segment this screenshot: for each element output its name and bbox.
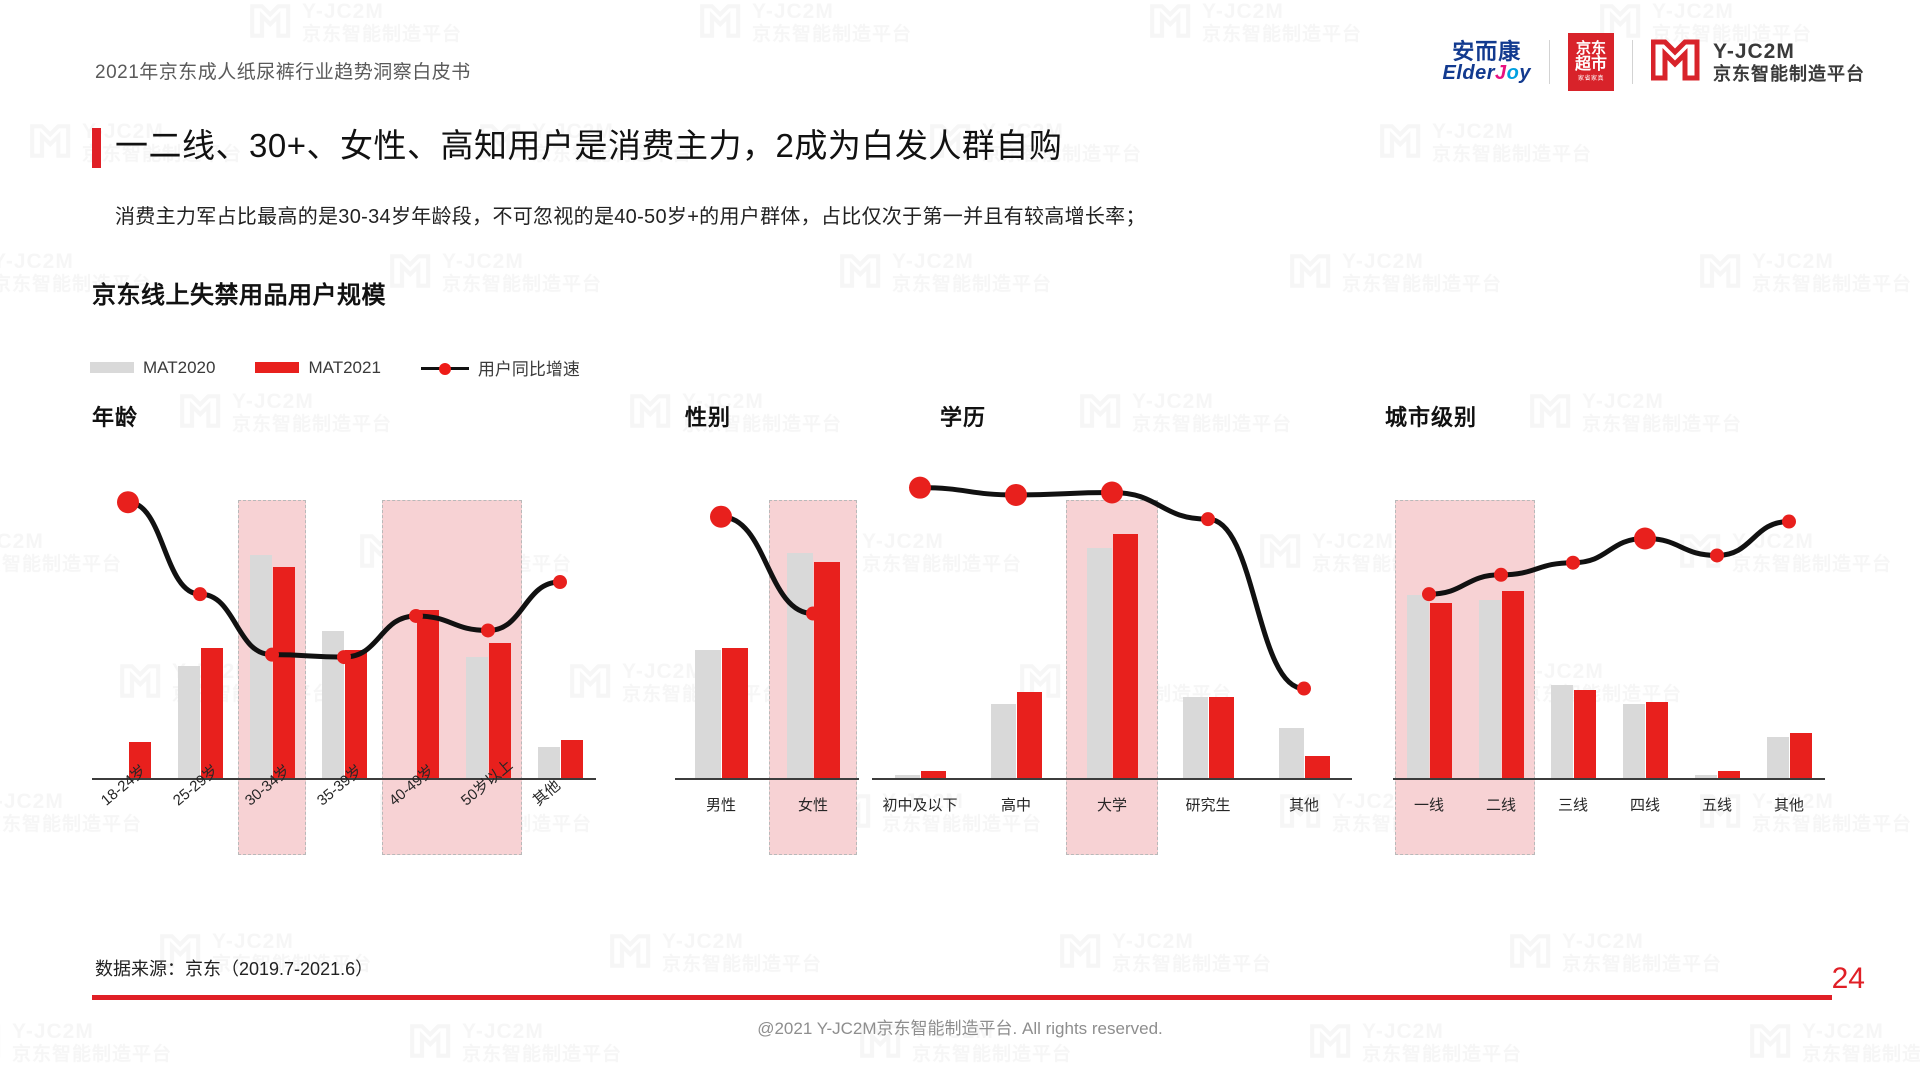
bar-group[interactable] xyxy=(380,610,452,780)
watermark: Y-JC2M京东智能制造平台 xyxy=(610,930,822,976)
bar-mat2021[interactable] xyxy=(722,648,748,781)
x-axis-label: 初中及以下 xyxy=(872,794,968,815)
legend-label: MAT2020 xyxy=(143,358,215,378)
bar-mat2021[interactable] xyxy=(561,740,583,780)
footer-accent-line xyxy=(92,995,1832,1000)
bar-group[interactable] xyxy=(236,555,308,780)
legend-label: MAT2021 xyxy=(308,358,380,378)
document-title: 2021年京东成人纸尿裤行业趋势洞察白皮书 xyxy=(95,57,471,84)
legend-swatch-icon xyxy=(255,362,299,373)
growth-point[interactable] xyxy=(1634,528,1656,550)
yjc2m-mark-icon xyxy=(1651,38,1701,87)
page-number: 24 xyxy=(1832,962,1865,996)
x-axis-labels: 一线二线三线四线五线其他 xyxy=(1393,780,1825,890)
x-axis-label: 高中 xyxy=(968,794,1064,815)
chart-section-title: 京东线上失禁用品用户规模 xyxy=(92,275,386,310)
chart-group-label-gender: 性别 xyxy=(685,400,731,432)
bar-mat2020[interactable] xyxy=(787,553,813,780)
watermark: Y-JC2M京东智能制造平台 xyxy=(840,250,1052,296)
watermark: Y-JC2M京东智能制造平台 xyxy=(390,250,602,296)
growth-point[interactable] xyxy=(117,491,139,513)
bar-group[interactable] xyxy=(452,643,524,780)
bar-group[interactable] xyxy=(308,631,380,780)
chart-city-tier: 一线二线三线四线五线其他 xyxy=(1393,470,1833,890)
growth-point[interactable] xyxy=(1005,484,1027,506)
watermark: Y-JC2M京东智能制造平台 xyxy=(1700,250,1912,296)
bar-mat2021[interactable] xyxy=(1502,591,1524,780)
headline-accent-bar xyxy=(92,128,101,168)
x-axis-label: 女性 xyxy=(767,794,859,815)
watermark: Y-JC2M京东智能制造平台 xyxy=(1380,120,1592,166)
bar-mat2020[interactable] xyxy=(1183,697,1208,780)
elderjoy-en-part2: J xyxy=(1495,62,1507,84)
jd-supermarket-logo: 京东 超市 家省家真 xyxy=(1568,33,1614,91)
x-axis-label: 三线 xyxy=(1537,794,1609,815)
chart-group-label-education: 学历 xyxy=(940,400,986,432)
elderjoy-en-part1: Elder xyxy=(1443,62,1496,84)
bar-mat2021[interactable] xyxy=(1430,603,1452,780)
growth-point[interactable] xyxy=(1297,682,1311,696)
elderjoy-logo: 安而康 ElderJoy xyxy=(1443,40,1550,84)
chart-education: 初中及以下高中大学研究生其他 xyxy=(872,470,1362,890)
legend-label: 用户同比增速 xyxy=(478,355,580,380)
yjc2m-logo-text: Y-JC2M 京东智能制造平台 xyxy=(1713,40,1865,85)
jd-logo-line2: 超市 xyxy=(1575,56,1607,74)
watermark: Y-JC2M京东智能制造平台 xyxy=(1150,0,1362,46)
bar-mat2021[interactable] xyxy=(1574,690,1596,780)
watermark: Y-JC2M京东智能制造平台 xyxy=(250,0,462,46)
bar-mat2021[interactable] xyxy=(345,650,367,780)
slide-page: Y-JC2M京东智能制造平台 Y-JC2M京东智能制造平台 Y-JC2M京东智能… xyxy=(0,0,1920,1080)
bar-mat2021[interactable] xyxy=(1790,733,1812,780)
bar-group[interactable] xyxy=(524,740,596,780)
bar-mat2021[interactable] xyxy=(417,610,439,780)
data-source-note: 数据来源：京东（2019.7-2021.6） xyxy=(95,955,373,981)
bar-mat2020[interactable] xyxy=(991,704,1016,780)
bar-mat2020[interactable] xyxy=(1623,704,1645,780)
watermark: Y-JC2M京东智能制造平台 xyxy=(630,390,842,436)
plot-area xyxy=(872,470,1352,780)
growth-point[interactable] xyxy=(1566,556,1580,570)
chart-age: 18-24岁25-29岁30-34岁35-39岁40-49岁50岁以上其他 xyxy=(92,470,612,890)
legend-item-growth-line[interactable]: 用户同比增速 xyxy=(421,355,580,380)
bar-mat2020[interactable] xyxy=(1479,600,1501,780)
bar-mat2021[interactable] xyxy=(1305,756,1330,780)
bar-mat2021[interactable] xyxy=(1209,697,1234,780)
bar-mat2021[interactable] xyxy=(814,562,840,780)
watermark: Y-JC2M京东智能制造平台 xyxy=(1060,930,1272,976)
plot-area xyxy=(92,470,596,780)
x-axis-label: 研究生 xyxy=(1160,794,1256,815)
bar-mat2021[interactable] xyxy=(1646,702,1668,780)
plot-area xyxy=(675,470,859,780)
bar-group[interactable] xyxy=(767,553,859,780)
bar-group[interactable] xyxy=(968,692,1064,780)
headline-text: 一二线、30+、女性、高知用户是消费主力，2成为白发人群自购 xyxy=(115,125,1062,166)
bar-mat2020[interactable] xyxy=(322,631,344,780)
elderjoy-logo-en: ElderJoy xyxy=(1443,63,1532,84)
bar-mat2020[interactable] xyxy=(466,657,488,780)
legend-item-mat2020[interactable]: MAT2020 xyxy=(90,358,215,378)
bar-mat2020[interactable] xyxy=(1279,728,1304,780)
growth-point[interactable] xyxy=(710,506,732,528)
headline-block: 一二线、30+、女性、高知用户是消费主力，2成为白发人群自购 xyxy=(92,125,1062,168)
x-axis-label: 其他 xyxy=(528,775,564,810)
elderjoy-en-part4: y xyxy=(1519,62,1531,84)
watermark: Y-JC2M京东智能制造平台 xyxy=(180,390,392,436)
legend-item-mat2021[interactable]: MAT2021 xyxy=(255,358,380,378)
bar-mat2020[interactable] xyxy=(1551,685,1573,780)
bar-mat2021[interactable] xyxy=(273,567,295,780)
chart-group-label-city: 城市级别 xyxy=(1385,400,1477,432)
bar-group[interactable] xyxy=(1537,685,1609,780)
bar-mat2020[interactable] xyxy=(695,650,721,780)
legend-line-marker-icon xyxy=(421,362,469,374)
logo-group: 安而康 ElderJoy 京东 超市 家省家真 Y-JC2M 京东智能制造平台 xyxy=(1443,32,1866,92)
bar-mat2020[interactable] xyxy=(1767,737,1789,780)
yjc2m-logo: Y-JC2M 京东智能制造平台 xyxy=(1633,38,1865,87)
bar-mat2020[interactable] xyxy=(1407,595,1429,780)
bar-mat2020[interactable] xyxy=(250,555,272,780)
bar-mat2020[interactable] xyxy=(1087,548,1112,780)
x-axis-label: 其他 xyxy=(1753,794,1825,815)
bar-group[interactable] xyxy=(1609,702,1681,780)
chart-group-label-age: 年龄 xyxy=(92,400,138,432)
bar-group[interactable] xyxy=(1465,591,1537,780)
bar-group[interactable] xyxy=(1064,534,1160,780)
x-axis-label: 一线 xyxy=(1393,794,1465,815)
growth-point[interactable] xyxy=(1201,512,1215,526)
x-axis-label: 二线 xyxy=(1465,794,1537,815)
x-axis-labels: 男性女性 xyxy=(675,780,859,890)
watermark: Y-JC2M京东智能制造平台 xyxy=(1290,250,1502,296)
subheadline-text: 消费主力军占比最高的是30-34岁年龄段，不可忽视的是40-50岁+的用户群体，… xyxy=(115,200,1146,229)
x-axis-label: 其他 xyxy=(1256,794,1352,815)
growth-point[interactable] xyxy=(553,575,567,589)
growth-point[interactable] xyxy=(193,587,207,601)
bar-group[interactable] xyxy=(1753,733,1825,780)
legend-swatch-icon xyxy=(90,362,134,373)
bar-group[interactable] xyxy=(164,648,236,781)
growth-point[interactable] xyxy=(909,477,931,499)
x-axis-label: 四线 xyxy=(1609,794,1681,815)
bar-mat2021[interactable] xyxy=(1017,692,1042,780)
yjc2m-text-cn: 京东智能制造平台 xyxy=(1713,64,1865,85)
bar-group[interactable] xyxy=(1256,728,1352,780)
bar-mat2020[interactable] xyxy=(178,666,200,780)
elderjoy-logo-cn: 安而康 xyxy=(1452,40,1521,63)
x-axis-label: 男性 xyxy=(675,794,767,815)
chart-legend: MAT2020 MAT2021 用户同比增速 xyxy=(90,355,580,380)
x-axis-label: 大学 xyxy=(1064,794,1160,815)
plot-area xyxy=(1393,470,1825,780)
watermark: Y-JC2M京东智能制造平台 xyxy=(1530,390,1742,436)
bar-mat2021[interactable] xyxy=(1113,534,1138,780)
watermark: Y-JC2M京东智能制造平台 xyxy=(1510,930,1722,976)
bar-group[interactable] xyxy=(1393,595,1465,780)
watermark: Y-JC2M京东智能制造平台 xyxy=(1080,390,1292,436)
bar-group[interactable] xyxy=(1160,697,1256,780)
bar-mat2021[interactable] xyxy=(201,648,223,781)
growth-point[interactable] xyxy=(1782,515,1796,529)
logo-divider-1 xyxy=(1549,40,1550,84)
watermark: Y-JC2M京东智能制造平台 xyxy=(700,0,912,46)
growth-point[interactable] xyxy=(1710,548,1724,562)
bar-group[interactable] xyxy=(675,648,767,781)
x-axis-labels: 初中及以下高中大学研究生其他 xyxy=(872,780,1352,890)
copyright-text: @2021 Y-JC2M京东智能制造平台. All rights reserve… xyxy=(0,1014,1920,1039)
yjc2m-text-en: Y-JC2M xyxy=(1713,40,1865,64)
elderjoy-en-part3: o xyxy=(1507,62,1520,84)
chart-gender: 男性女性 xyxy=(675,470,865,890)
jd-logo-line1: 京东 xyxy=(1576,41,1606,57)
jd-logo-line3: 家省家真 xyxy=(1578,76,1604,83)
x-axis-label: 五线 xyxy=(1681,794,1753,815)
x-axis-labels: 18-24岁25-29岁30-34岁35-39岁40-49岁50岁以上其他 xyxy=(92,780,596,890)
